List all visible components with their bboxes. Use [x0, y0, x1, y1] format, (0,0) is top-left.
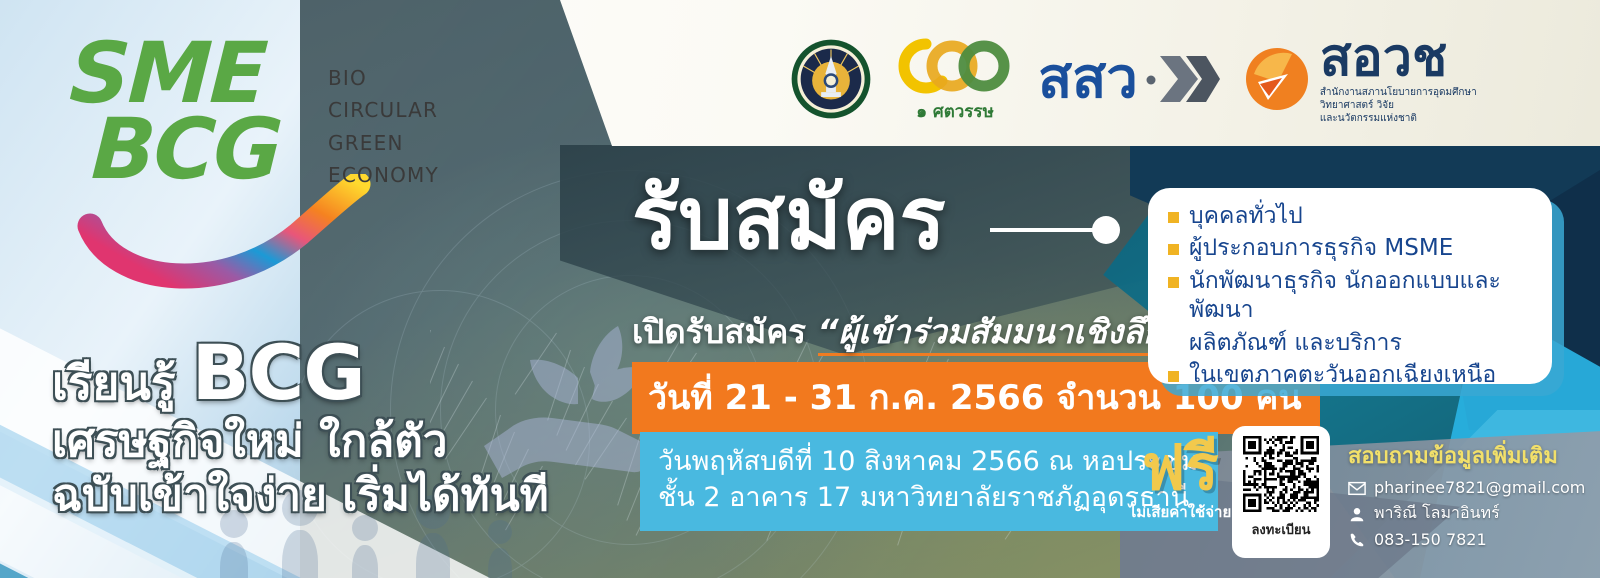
bullet-square-icon [1168, 371, 1179, 382]
audience-item-3-label: นักพัฒนาธุรกิจ นักออกแบบและพัฒนา [1189, 267, 1534, 326]
promo-banner: SME BCG BIO CIRCULAR GREEN ECONOMY [0, 0, 1600, 578]
event-details-line1: วันพฤหัสบดีที่ 10 สิงหาคม 2566 ณ หอประชุ… [658, 444, 1198, 480]
osmep-text: สสว [1038, 51, 1138, 107]
nxpo-sub-1: สำนักงานสภานโยบายการอุดมศึกษา [1320, 87, 1477, 100]
bullet-square-icon [1168, 244, 1179, 255]
sub-headline: เปิดรับสมัคร “ผู้เข้าร่วมสัมมนาเชิงลึก” [632, 305, 1184, 358]
left-copy-line3: ฉบับเข้าใจง่าย เริ่มได้ทันที [52, 469, 612, 523]
contact-email: pharinee7821@gmail.com [1374, 478, 1585, 497]
main-headline: รับสมัคร [632, 176, 946, 262]
sme-bcg-logo: SME BCG BIO CIRCULAR GREEN ECONOMY [46, 24, 476, 294]
tagline-bio: BIO [328, 62, 476, 94]
centennial-logo: ๑ ศตวรรษ [896, 34, 1014, 125]
audience-item-4: ในเขตภาคตะวันออกเฉียงเหนือ [1168, 361, 1534, 390]
nxpo-sub-2: วิทยาศาสตร์ วิจัย [1320, 100, 1477, 113]
bullet-square-icon [1168, 277, 1179, 288]
qr-label: ลงทะเบียน [1251, 519, 1310, 540]
contact-phone-row[interactable]: 083-150 7821 [1348, 530, 1598, 549]
audience-item-4-label: ในเขตภาคตะวันออกเฉียงเหนือ [1189, 361, 1496, 390]
audience-item-3-continuation: ผลิตภัณฑ์ และบริการ [1168, 329, 1534, 358]
partner-logos: ๑ ศตวรรษ สสว สอวช สำนักงานสภานโยบายการอุ… [790, 16, 1477, 142]
contact-title: สอบถามข้อมูลเพิ่มเติม [1348, 438, 1598, 473]
nxpo-text: สอวช [1320, 32, 1477, 84]
nxpo-logo: สอวช สำนักงานสภานโยบายการอุดมศึกษา วิทยา… [1244, 32, 1477, 125]
event-details-line2: ชั้น 2 อาคาร 17 มหาวิทยาลัยราชภัฏอุดรธาน… [658, 480, 1198, 516]
audience-card: บุคคลทั่วไป ผู้ประกอบการธุรกิจ MSME นักพ… [1148, 188, 1552, 384]
person-icon [1348, 506, 1366, 522]
audience-item-2: ผู้ประกอบการธุรกิจ MSME [1168, 234, 1534, 263]
bullet-square-icon [1168, 212, 1179, 223]
chevron-arrows-icon [1146, 50, 1220, 108]
nxpo-sub-3: และนวัตกรรมแห่งชาติ [1320, 113, 1477, 126]
centennial-label: ๑ ศตวรรษ [916, 98, 994, 125]
qr-code-icon[interactable] [1243, 436, 1319, 512]
left-headline-copy: เรียนรู้ BCG เศรษฐกิจใหม่ ใกล้ตัว ฉบับเข… [52, 330, 612, 522]
left-copy-line1-big: BCG [192, 328, 365, 417]
rainbow-swoosh-icon [74, 174, 374, 294]
left-copy-line1-prefix: เรียนรู้ [52, 356, 192, 410]
free-badge: ฟรี ไม่เสียค่าใช้จ่าย [1126, 438, 1234, 524]
left-copy-line1: เรียนรู้ BCG [52, 330, 612, 415]
sub-headline-quoted: “ผู้เข้าร่วมสัมมนาเชิงลึก” [818, 312, 1185, 356]
nxpo-subtitle: สำนักงานสภานโยบายการอุดมศึกษา วิทยาศาสตร… [1320, 87, 1477, 125]
headline-dot [1092, 216, 1120, 244]
free-badge-sub: ไม่เสียค่าใช้จ่าย [1126, 500, 1234, 524]
centennial-mark-icon [896, 34, 1014, 96]
phone-icon [1348, 532, 1366, 548]
contact-email-row[interactable]: pharinee7821@gmail.com [1348, 478, 1598, 497]
audience-item-1: บุคคลทั่วไป [1168, 202, 1534, 231]
nxpo-mark-icon [1244, 46, 1310, 112]
contact-phone: 083-150 7821 [1374, 530, 1487, 549]
university-seal-icon [790, 38, 872, 120]
sub-headline-prefix: เปิดรับสมัคร [632, 312, 818, 351]
free-badge-main: ฟรี [1126, 438, 1234, 498]
qr-registration-card[interactable]: ลงทะเบียน [1232, 426, 1330, 558]
contact-person: พาริณี โลมาอินทร์ [1374, 501, 1500, 526]
audience-item-2-label: ผู้ประกอบการธุรกิจ MSME [1189, 234, 1453, 263]
contact-block: สอบถามข้อมูลเพิ่มเติม pharinee7821@gmail… [1348, 438, 1598, 553]
audience-item-1-label: บุคคลทั่วไป [1189, 202, 1303, 231]
osmep-logo: สสว [1038, 50, 1220, 108]
contact-person-row: พาริณี โลมาอินทร์ [1348, 501, 1598, 526]
tagline-green: GREEN ECONOMY [328, 127, 476, 192]
logo-tagline: BIO CIRCULAR GREEN ECONOMY [328, 62, 476, 192]
left-copy-line2: เศรษฐกิจใหม่ ใกล้ตัว [52, 415, 612, 469]
audience-item-3: นักพัฒนาธุรกิจ นักออกแบบและพัฒนา [1168, 267, 1534, 326]
tagline-circular: CIRCULAR [328, 94, 476, 126]
envelope-icon [1348, 480, 1366, 496]
